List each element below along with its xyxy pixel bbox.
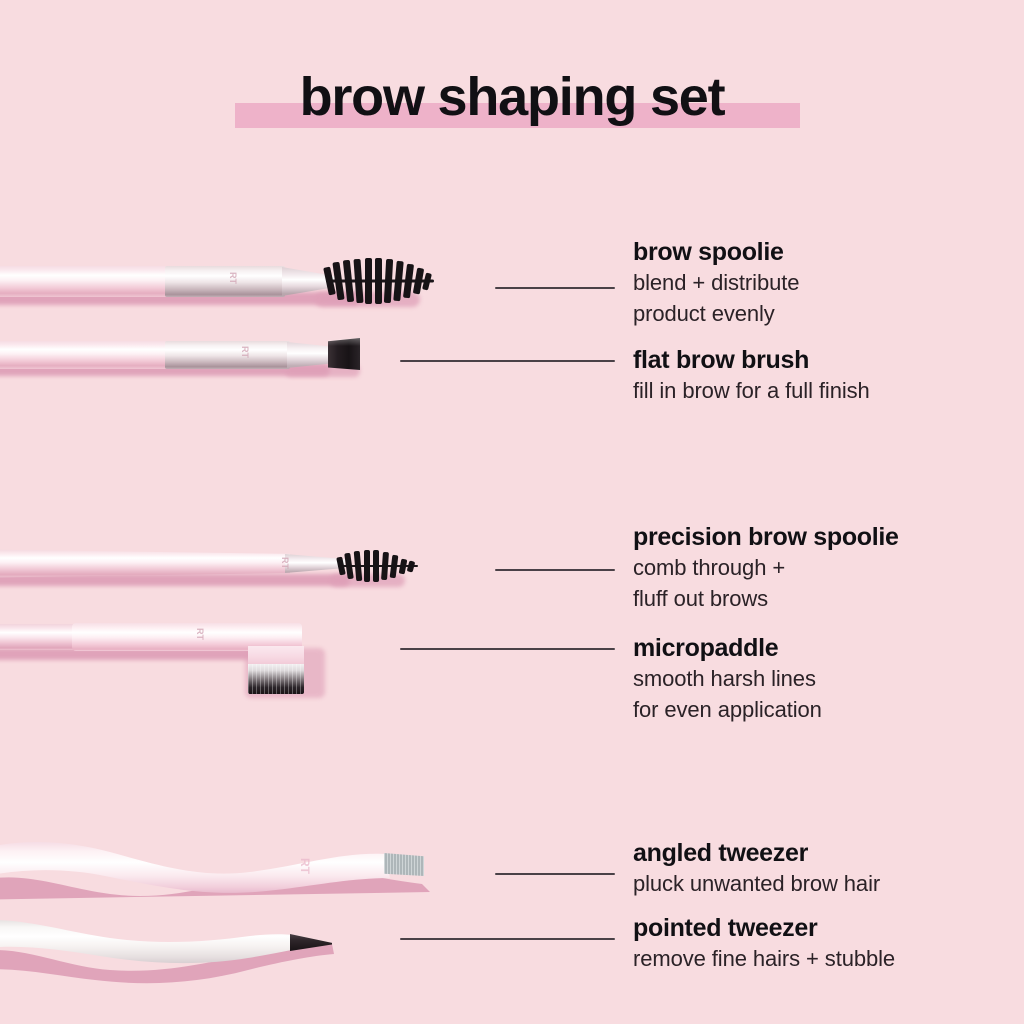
product-description-line: product evenly xyxy=(633,298,799,329)
product-description-line: fill in brow for a full finish xyxy=(633,375,870,406)
spoolie-head xyxy=(338,550,418,582)
spoolie-bristle xyxy=(364,550,370,582)
brand-logo-rt: RT xyxy=(280,557,290,569)
product-description-line: smooth harsh lines xyxy=(633,663,822,694)
page-title-block: brow shaping set xyxy=(0,56,1024,146)
spoolie-head xyxy=(326,258,434,304)
connector-line-angled-tweezer xyxy=(495,873,615,875)
product-description-line: for even application xyxy=(633,694,822,725)
spoolie-bristle xyxy=(375,258,382,304)
spoolie-bristle xyxy=(407,560,416,572)
flat-brush-head-sheen xyxy=(328,338,360,346)
brush-handle xyxy=(0,266,170,297)
micropaddle-bristle-streaks xyxy=(248,664,304,694)
connector-line-pointed-tweezer xyxy=(400,938,615,940)
product-description-line: pluck unwanted brow hair xyxy=(633,868,880,899)
product-label-precision-brow-spoolie: precision brow spoolie comb through + fl… xyxy=(633,522,899,614)
product-label-flat-brow-brush: flat brow brush fill in brow for a full … xyxy=(633,345,870,406)
product-image-precision-brow-spoolie: RT xyxy=(0,533,430,613)
angled-tweezer-steel-tip xyxy=(384,853,424,876)
product-name: micropaddle xyxy=(633,633,822,663)
spoolie-bristle xyxy=(373,550,379,582)
spoolie-bristle xyxy=(365,258,372,304)
product-image-pointed-tweezer xyxy=(0,900,390,1000)
product-image-flat-brow-brush: RT xyxy=(0,326,390,396)
spoolie-bristle xyxy=(381,552,389,580)
product-label-pointed-tweezer: pointed tweezer remove fine hairs + stub… xyxy=(633,913,895,974)
spoolie-bristle xyxy=(354,551,363,581)
brush-handle xyxy=(0,341,170,369)
product-label-brow-spoolie: brow spoolie blend + distribute product … xyxy=(633,237,799,329)
brand-logo-rt: RT xyxy=(195,628,205,640)
product-description-line: remove fine hairs + stubble xyxy=(633,943,895,974)
brush-handle xyxy=(0,624,75,650)
brush-handle xyxy=(0,549,290,578)
pointed-tweezer-body xyxy=(0,900,390,1000)
brush-ferrule xyxy=(165,341,290,369)
product-image-brow-spoolie: RT xyxy=(0,248,440,332)
connector-line-micropaddle xyxy=(400,648,615,650)
connector-line-flat-brow-brush xyxy=(400,360,615,362)
spoolie-bristle xyxy=(384,259,393,303)
product-description-line: comb through + xyxy=(633,552,899,583)
product-description-line: blend + distribute xyxy=(633,267,799,298)
brand-logo-rt: RT xyxy=(240,346,250,358)
brand-logo-rt: RT xyxy=(298,858,312,874)
page-title: brow shaping set xyxy=(0,56,1024,138)
product-name: flat brow brush xyxy=(633,345,870,375)
product-name: precision brow spoolie xyxy=(633,522,899,552)
product-name: brow spoolie xyxy=(633,237,799,267)
product-image-micropaddle: RT xyxy=(0,608,380,703)
product-label-angled-tweezer: angled tweezer pluck unwanted brow hair xyxy=(633,838,880,899)
brand-logo-rt: RT xyxy=(228,272,238,284)
product-name: angled tweezer xyxy=(633,838,880,868)
product-description-line: fluff out brows xyxy=(633,583,899,614)
infographic-canvas: brow shaping set RT brow spoo xyxy=(0,0,1024,1024)
connector-line-precision-brow-spoolie xyxy=(495,569,615,571)
connector-line-brow-spoolie xyxy=(495,287,615,289)
product-name: pointed tweezer xyxy=(633,913,895,943)
spoolie-bristle xyxy=(353,259,363,303)
product-label-micropaddle: micropaddle smooth harsh lines for even … xyxy=(633,633,822,725)
brush-neck xyxy=(285,554,345,573)
brush-ferrule xyxy=(165,266,285,297)
